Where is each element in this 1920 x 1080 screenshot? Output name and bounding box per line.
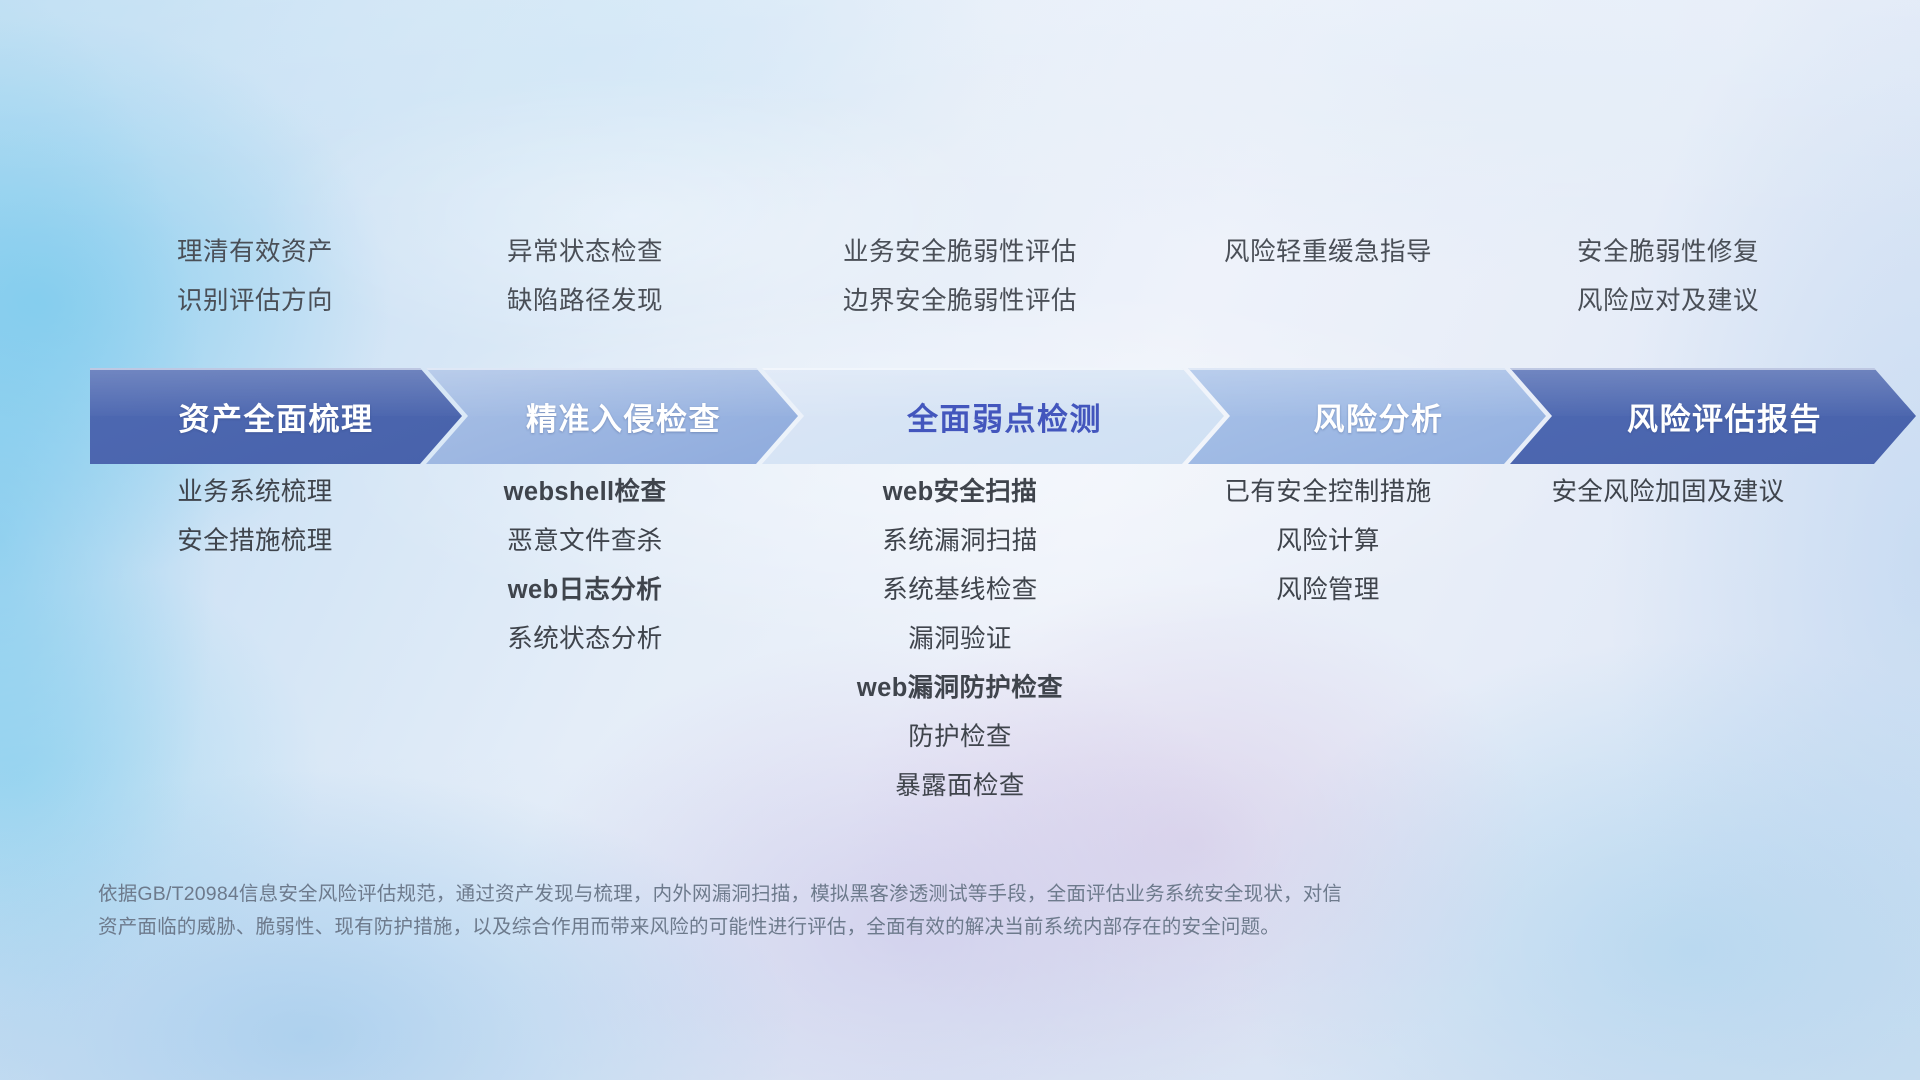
chevron-stage-risk-analysis[interactable]: 风险分析: [1188, 368, 1546, 464]
bottom-label: web日志分析: [508, 566, 662, 615]
top-label: 识别评估方向: [177, 277, 333, 326]
bottom-label: 防护检查: [908, 713, 1012, 762]
chevron-band: 资产全面梳理精准入侵检查全面弱点检测风险分析风险评估报告: [90, 368, 1850, 464]
chevron-top-highlight: [90, 368, 462, 370]
chevron-top-highlight: [762, 368, 1224, 370]
top-label-group-intrusion-check: 异常状态检查缺陷路径发现: [420, 228, 750, 338]
bottom-label: 漏洞验证: [908, 615, 1012, 664]
bottom-label: 风险计算: [1276, 517, 1380, 566]
bottom-label: 已有安全控制措施: [1224, 468, 1431, 517]
bottom-label: 风险管理: [1276, 566, 1380, 615]
bottom-label: 业务系统梳理: [177, 468, 332, 517]
chevron-stage-risk-report[interactable]: 风险评估报告: [1510, 368, 1916, 464]
top-label: 边界安全脆弱性评估: [843, 277, 1077, 326]
footer-line-2: 资产面临的威胁、脆弱性、现有防护措施，以及综合作用而带来风险的可能性进行评估，全…: [98, 911, 1628, 944]
chevron-stage-asset-inventory[interactable]: 资产全面梳理: [90, 368, 462, 464]
chevron-title: 全面弱点检测: [907, 394, 1102, 439]
bottom-label: 系统基线检查: [882, 566, 1037, 615]
bottom-label-group-weakness-detection: web安全扫描系统漏洞扫描系统基线检查漏洞验证web漏洞防护检查防护检查暴露面检…: [750, 468, 1170, 728]
bottom-label-group-intrusion-check: webshell检查恶意文件查杀web日志分析系统状态分析: [420, 468, 750, 728]
top-label: 安全脆弱性修复: [1577, 228, 1759, 277]
top-label: 缺陷路径发现: [507, 277, 663, 326]
top-label-group-risk-analysis: 风险轻重缓急指导: [1170, 228, 1486, 338]
top-label-row: 理清有效资产识别评估方向异常状态检查缺陷路径发现业务安全脆弱性评估边界安全脆弱性…: [90, 228, 1850, 338]
footer-description: 依据GB/T20984信息安全风险评估规范，通过资产发现与梳理，内外网漏洞扫描，…: [98, 878, 1628, 944]
bottom-label: webshell检查: [504, 468, 667, 517]
chevron-stage-intrusion-check[interactable]: 精准入侵检查: [426, 368, 798, 464]
top-label: 异常状态检查: [507, 228, 663, 277]
bottom-label: 恶意文件查杀: [507, 517, 662, 566]
top-label-group-asset-inventory: 理清有效资产识别评估方向: [90, 228, 420, 338]
process-diagram: 理清有效资产识别评估方向异常状态检查缺陷路径发现业务安全脆弱性评估边界安全脆弱性…: [0, 0, 1920, 1080]
top-label-group-risk-report: 安全脆弱性修复风险应对及建议: [1486, 228, 1850, 338]
chevron-top-highlight: [1510, 368, 1916, 370]
bottom-label: 系统状态分析: [507, 615, 662, 664]
top-label: 业务安全脆弱性评估: [843, 228, 1077, 277]
chevron-title: 精准入侵检查: [526, 394, 721, 439]
chevron-title: 资产全面梳理: [179, 394, 374, 439]
bottom-label-row: 业务系统梳理安全措施梳理webshell检查恶意文件查杀web日志分析系统状态分…: [90, 468, 1850, 728]
footer-line-1: 依据GB/T20984信息安全风险评估规范，通过资产发现与梳理，内外网漏洞扫描，…: [98, 878, 1628, 911]
bottom-label: web安全扫描: [883, 468, 1037, 517]
bottom-label-group-asset-inventory: 业务系统梳理安全措施梳理: [90, 468, 420, 728]
chevron-top-highlight: [1188, 368, 1546, 370]
top-label: 风险应对及建议: [1577, 277, 1759, 326]
bottom-label-group-risk-report: 安全风险加固及建议: [1486, 468, 1850, 728]
bottom-label: 安全措施梳理: [177, 517, 332, 566]
chevron-stage-weakness-detection[interactable]: 全面弱点检测: [762, 368, 1224, 464]
bottom-label: 系统漏洞扫描: [882, 517, 1037, 566]
top-label-group-weakness-detection: 业务安全脆弱性评估边界安全脆弱性评估: [750, 228, 1170, 338]
chevron-title: 风险评估报告: [1627, 394, 1822, 439]
bottom-label-group-risk-analysis: 已有安全控制措施风险计算风险管理: [1170, 468, 1486, 728]
bottom-label: web漏洞防护检查: [857, 664, 1063, 713]
top-label: 理清有效资产: [177, 228, 333, 277]
chevron-top-highlight: [426, 368, 798, 370]
bottom-label: 暴露面检查: [895, 762, 1025, 811]
bottom-label: 安全风险加固及建议: [1551, 468, 1784, 517]
chevron-title: 风险分析: [1314, 394, 1444, 439]
top-label: 风险轻重缓急指导: [1224, 228, 1432, 277]
